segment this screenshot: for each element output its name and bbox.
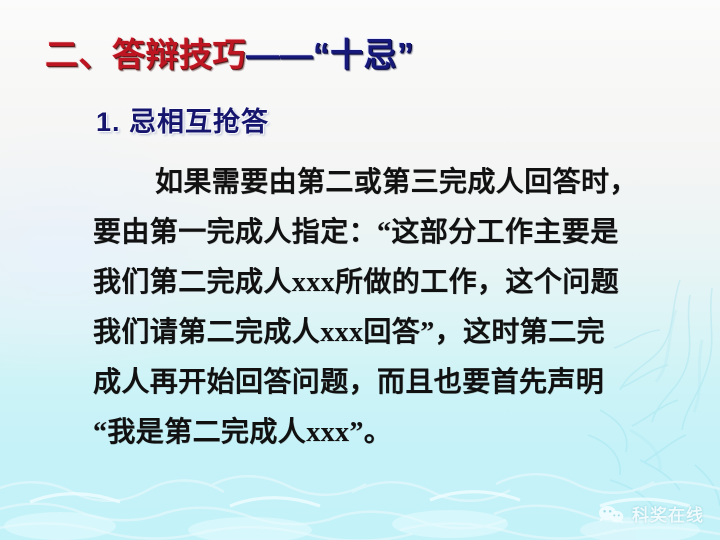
body-line: 成人再开始回答问题，而且也要首先声明 xyxy=(93,358,649,408)
slide-subtitle: 1. 忌相互抢答 xyxy=(96,100,269,139)
body-line: 我们第二完成人xxx所做的工作，这个问题 xyxy=(93,258,649,308)
body-line: 要由第一完成人指定：“这部分工作主要是 xyxy=(93,208,649,258)
slide-title: 二、答辩技巧——“十忌” xyxy=(45,34,414,75)
wechat-icon xyxy=(597,504,625,524)
watermark: 科奖在线 xyxy=(597,501,704,526)
slide-title-navy-part: ——“十忌” xyxy=(246,36,414,73)
body-line: 我们请第二完成人xxx回答”，这时第二完 xyxy=(93,308,649,358)
body-line: “我是第二完成人xxx”。 xyxy=(93,408,649,458)
presentation-slide: 二、答辩技巧——“十忌” 1. 忌相互抢答 如果需要由第二或第三完成人回答时， … xyxy=(0,0,720,540)
slide-title-red-part: 二、答辩技巧 xyxy=(45,36,246,73)
slide-body-text: 如果需要由第二或第三完成人回答时， 要由第一完成人指定：“这部分工作主要是 我们… xyxy=(93,158,649,458)
body-line: 如果需要由第二或第三完成人回答时， xyxy=(93,158,649,208)
watermark-label: 科奖在线 xyxy=(632,501,704,526)
